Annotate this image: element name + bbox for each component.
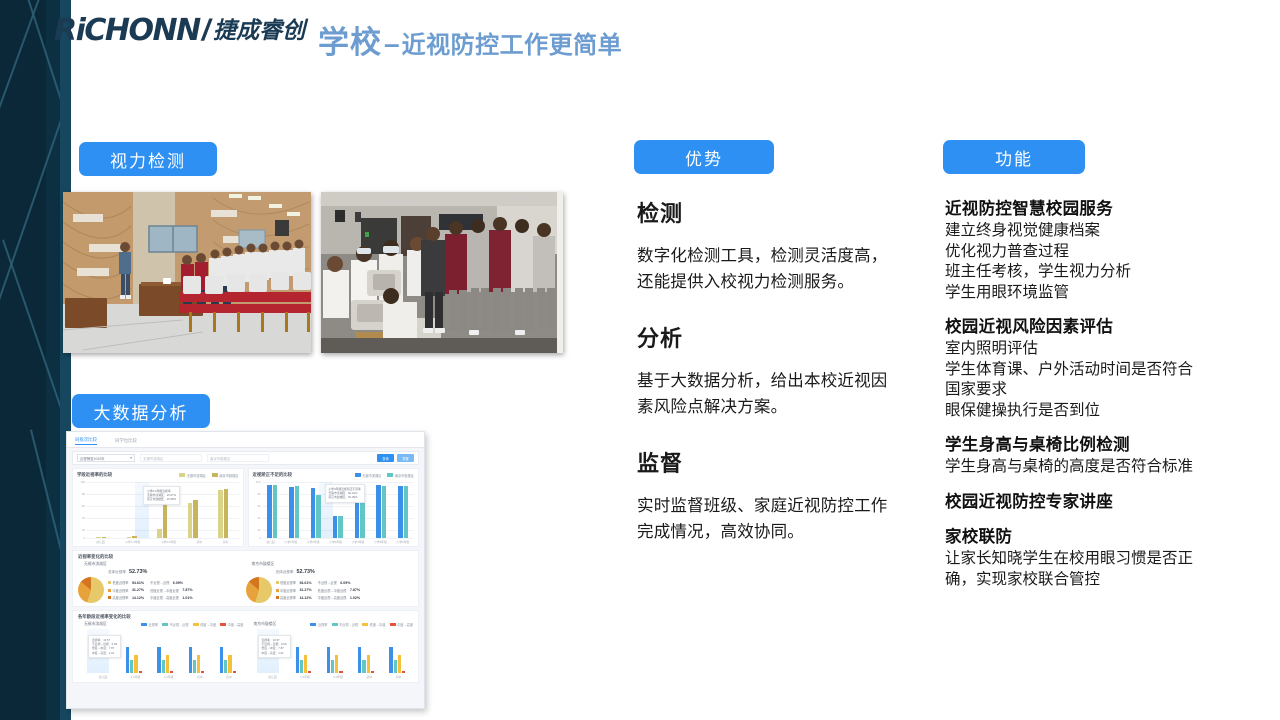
- legend-swatch: [162, 623, 168, 626]
- bar: [163, 505, 168, 538]
- legend-label: 高度近视率: [113, 595, 129, 600]
- bar: [295, 486, 300, 538]
- bar: [367, 655, 370, 673]
- x-tick-label: 初中: [197, 675, 203, 679]
- chart1-ytick-100: 100: [80, 480, 85, 484]
- chart1-legend-label-1: 南京市鼓楼区: [219, 473, 238, 478]
- chart1-ytick-0: 0: [83, 536, 85, 540]
- dashboard-search-button[interactable]: 查询: [377, 454, 394, 462]
- bar-group: [327, 629, 343, 673]
- pie-legend-transitions: 不近视→近视6.09%低度近视→中度近视7.87%中度近视→高度近视1.02%: [318, 580, 360, 600]
- x-tick-label: 幼儿园: [268, 675, 276, 679]
- bar: [162, 660, 165, 673]
- legend-item: 低度近视率54.61%: [108, 580, 144, 585]
- legend-item: 低度近视→中度近视7.87%: [150, 588, 192, 593]
- x-tick-label: 小学4-6年级: [161, 540, 176, 544]
- legend-swatch: [276, 581, 279, 584]
- x-tick-label: 初中: [197, 540, 203, 544]
- bar: [139, 671, 142, 673]
- pie-chart: [246, 577, 272, 603]
- bar: [96, 537, 101, 538]
- bar: [102, 537, 107, 538]
- bar: [333, 516, 338, 538]
- dashboard-tab-1[interactable]: 同学位比较: [115, 438, 137, 445]
- x-tick-label: 小学4年级: [352, 540, 365, 544]
- bar: [398, 655, 401, 673]
- bar-group: [296, 629, 312, 673]
- chart2-ytick-60: 60: [257, 504, 260, 508]
- bar: [394, 660, 397, 673]
- legend-swatch: [355, 473, 361, 476]
- bar: [218, 490, 223, 538]
- pie-row: 低度近视率54.61%中度近视率31.27%高度近视率14.12%不近视→近视6…: [78, 577, 246, 603]
- pie-panel-region: 无锡市滨湖区: [84, 562, 246, 567]
- function-item-1-1: 学生体育课、户外活动时间是否符合: [945, 360, 1245, 380]
- bar: [170, 671, 173, 673]
- x-tick-label: 高中: [396, 675, 402, 679]
- chart3-panels: 无锡市滨湖区总体近视率52.73%低度近视率54.61%中度近视率31.27%高…: [78, 562, 413, 603]
- logo-divider: /: [202, 16, 210, 46]
- photo1-graphic: [63, 192, 311, 353]
- legend-label: 低度近视率: [280, 580, 296, 585]
- total-value: 52.73%: [296, 569, 314, 575]
- function-block-4: 家校联防让家长知晓学生在校用眼习惯是否正确，实现家校联合管控: [945, 526, 1245, 590]
- title-subtitle: 近视防控工作更简单: [402, 25, 623, 60]
- pie-row: 低度近视率54.61%中度近视率31.27%高度近视率14.12%不近视→近视6…: [246, 577, 414, 603]
- bar-group: [289, 482, 299, 538]
- bar: [193, 500, 198, 538]
- function-heading-2: 学生身高与桌椅比例检测: [945, 434, 1245, 456]
- chart2-ytick-100: 100: [256, 480, 261, 484]
- pie-legend: 低度近视率54.61%中度近视率31.27%高度近视率14.12%不近视→近视6…: [276, 580, 361, 600]
- chart4-panels: 无锡市滨湖区近视率不近视→近视低度→中度中度→高度近视率：16.57不近视→近视…: [78, 622, 413, 679]
- bar: [197, 655, 200, 673]
- function-block-2: 学生身高与桌椅比例检测学生身高与桌椅的高度是否符合标准: [945, 434, 1245, 478]
- x-tick-label: 1-3年级: [300, 675, 310, 679]
- function-item-0-1: 优化视力普查过程: [945, 242, 1245, 262]
- chart2-ytick-40: 40: [257, 516, 260, 520]
- badge-bigdata-analysis: 大数据分析: [72, 394, 210, 428]
- chart-card-correction-deficiency: 近视矫正不足的比较 无锡市滨湖区 南京市鼓楼区: [248, 468, 420, 547]
- badge-function: 功能: [943, 140, 1085, 174]
- bar: [296, 647, 299, 673]
- x-tick-label: 小学3年级: [329, 540, 342, 544]
- bar: [402, 671, 405, 673]
- pie-legend: 低度近视率54.61%中度近视率31.27%高度近视率14.12%不近视→近视6…: [108, 580, 193, 600]
- x-tick-label: 高中: [226, 675, 232, 679]
- bar-group: [188, 482, 198, 538]
- advantage-block-2: 监督 实时监督班级、家庭近视防控工作完成情况，高效协同。: [637, 446, 889, 545]
- dashboard-screenshot[interactable]: 同批次比较 同学位比较 近视筛查2020年 ▾ 无锡市滨湖区 南京市鼓楼区 查询…: [66, 431, 425, 709]
- chart2-xlabels: 幼儿园小学1年级小学2年级小学3年级小学4年级小学5年级小学6年级: [262, 540, 415, 544]
- bar: [134, 655, 137, 673]
- bar: [157, 529, 162, 538]
- legend-label: 低度近视→中度近视: [318, 588, 347, 593]
- agegroup-xlabels: 幼儿园1-3年级4-6年级初中高中: [87, 675, 244, 679]
- advantage-block-1: 分析 基于大数据分析，给出本校近视因素风险点解决方案。: [637, 321, 889, 420]
- legend-value: 1.01%: [182, 596, 192, 600]
- pie-panel-total: 总体近视率52.73%: [276, 569, 414, 575]
- chart1-plot: 100 80 60 40 20 0 小学4-6年级近视率无锡市滨湖区：15.67…: [77, 480, 239, 544]
- legend-value: 14.12%: [132, 596, 144, 600]
- x-tick-label: 高中: [223, 540, 229, 544]
- legend-swatch: [212, 473, 218, 476]
- bar: [289, 487, 294, 538]
- chart-card-stage-myopia-rate: 学段近视率的比较 无锡市滨湖区 南京市鼓楼区: [72, 468, 244, 547]
- advantage-heading-1: 分析: [637, 321, 889, 353]
- function-heading-3: 校园近视防控专家讲座: [945, 491, 1245, 513]
- bar-group: [127, 482, 137, 538]
- total-value: 52.73%: [129, 569, 147, 575]
- legend-value: 54.61%: [299, 581, 311, 585]
- legend-value: 7.87%: [350, 588, 360, 592]
- dashboard-year-value: 近视筛查2020年: [80, 456, 105, 461]
- function-item-1-0: 室内照明评估: [945, 339, 1245, 359]
- bar-group: [389, 629, 405, 673]
- advantage-heading-2: 监督: [637, 446, 889, 478]
- dashboard-reset-button[interactable]: 重置: [397, 454, 414, 462]
- legend-swatch: [193, 623, 199, 626]
- bar: [188, 503, 193, 538]
- legend-label: 高度近视率: [280, 595, 296, 600]
- dashboard-action-buttons[interactable]: 查询 重置: [377, 454, 414, 462]
- agegroup-xlabels: 幼儿园1-3年级4-6年级初中高中: [257, 675, 414, 679]
- function-block-3: 校园近视防控专家讲座: [945, 491, 1245, 513]
- legend-item: 中度近视→高度近视1.01%: [150, 595, 192, 600]
- chart2-tooltip: 小学3年级近视矫正不足率无锡市滨湖区：60.01%南京市鼓楼区：60.09%: [325, 484, 365, 503]
- advantage-heading-0: 检测: [637, 196, 889, 228]
- legend-value: 6.09%: [173, 581, 183, 585]
- tooltip-line: 南京市鼓楼区：15.68%: [147, 497, 176, 501]
- dashboard-region1-input[interactable]: 无锡市滨湖区: [140, 454, 202, 462]
- bar: [224, 489, 229, 538]
- bar: [311, 488, 316, 538]
- function-item-4-0: 让家长知晓学生在校用眼习惯是否正: [945, 549, 1245, 569]
- chart1-ytick-60: 60: [82, 504, 85, 508]
- agegroup-plot: 近视率：16.57不近视→近视：6.09低度→中度：7.87中度→高度：1.01…: [78, 627, 244, 679]
- function-heading-1: 校园近视风险因素评估: [945, 316, 1245, 338]
- chart-card-age-group-change: 各年龄段近视率变化的比较 无锡市滨湖区近视率不近视→近视低度→中度中度→高度近视…: [72, 610, 419, 683]
- legend-swatch: [362, 623, 368, 626]
- bar-group: [189, 629, 205, 673]
- pie-chart: [78, 577, 104, 603]
- chart2-header: 近视矫正不足的比较 无锡市滨湖区 南京市鼓楼区: [253, 472, 415, 478]
- x-tick-label: 幼儿园: [96, 540, 104, 544]
- chart1-legend-label-0: 无锡市滨湖区: [187, 473, 206, 478]
- chart1-header: 学段近视率的比较 无锡市滨湖区 南京市鼓楼区: [77, 472, 239, 478]
- chevron-down-icon: ▾: [130, 456, 132, 460]
- bar: [157, 647, 160, 673]
- chart-card-myopia-change: 近视率变化的比较 无锡市滨湖区总体近视率52.73%低度近视率54.61%中度近…: [72, 550, 419, 607]
- pie-panel-region: 南京市鼓楼区: [252, 562, 414, 567]
- legend-value: 7.87%: [182, 588, 192, 592]
- function-item-0-2: 班主任考核，学生视力分析: [945, 262, 1245, 282]
- chart1-legend-0: 无锡市滨湖区: [179, 473, 206, 478]
- vision-screening-photo: [321, 192, 563, 353]
- legend-swatch: [220, 623, 226, 626]
- legend-label: 低度近视率: [113, 580, 129, 585]
- dashboard-tab-0[interactable]: 同批次比较: [75, 437, 97, 445]
- slide-root: RiCHONN / 捷成睿创 学校 – 近视防控工作更简单 视力检测 大数据分析…: [0, 0, 1280, 720]
- tooltip-line: 中度→高度：1.01: [92, 651, 117, 655]
- legend-swatch: [108, 581, 111, 584]
- band-dark-fill: [0, 0, 46, 720]
- x-tick-label: 幼儿园: [266, 540, 274, 544]
- bar: [398, 486, 403, 538]
- page-title: 学校 – 近视防控工作更简单: [318, 17, 622, 62]
- dashboard-tabs[interactable]: 同批次比较 同学位比较: [67, 432, 424, 448]
- bar-group: [267, 482, 277, 538]
- chart1-tooltip: 小学4-6年级近视率无锡市滨湖区：15.67%南京市鼓楼区：15.68%: [143, 486, 180, 505]
- function-item-0-0: 建立终身视觉健康档案: [945, 221, 1245, 241]
- bar: [220, 647, 223, 673]
- badge-vision-detection: 视力检测: [79, 142, 217, 176]
- bar: [233, 671, 236, 673]
- chart2-legend: 无锡市滨湖区 南京市鼓楼区: [355, 473, 414, 478]
- function-item-2-0: 学生身高与桌椅的高度是否符合标准: [945, 457, 1245, 477]
- pie-panel: 无锡市滨湖区总体近视率52.73%低度近视率54.61%中度近视率31.27%高…: [78, 562, 246, 603]
- x-tick-label: 4-6年级: [164, 675, 174, 679]
- legend-label: 中度近视率: [113, 588, 129, 593]
- bar-group: [157, 629, 173, 673]
- pie-panel-total: 总体近视率52.73%: [108, 569, 246, 575]
- x-tick-label: 小学5年级: [374, 540, 387, 544]
- x-tick-label: 1-3年级: [131, 675, 141, 679]
- chart1-legend: 无锡市滨湖区 南京市鼓楼区: [179, 473, 238, 478]
- bar: [267, 485, 272, 538]
- total-label: 总体近视率: [108, 570, 126, 574]
- function-item-1-2: 国家要求: [945, 380, 1245, 400]
- bar-group: [398, 482, 408, 538]
- left-decor-band: [0, 0, 66, 720]
- legend-value: 54.61%: [132, 581, 144, 585]
- bar: [371, 671, 374, 673]
- chart2-legend-1: 南京市鼓楼区: [387, 473, 414, 478]
- legend-label: 不近视→近视: [150, 580, 169, 585]
- chart2-legend-0: 无锡市滨湖区: [355, 473, 382, 478]
- bar: [338, 516, 343, 538]
- function-item-0-3: 学生用眼环境监管: [945, 283, 1245, 303]
- bar: [304, 655, 307, 673]
- bar-group: [311, 482, 321, 538]
- x-tick-label: 小学2年级: [307, 540, 320, 544]
- bar: [335, 655, 338, 673]
- bar: [166, 655, 169, 673]
- dashboard-chart-row-1: 学段近视率的比较 无锡市滨湖区 南京市鼓楼区: [67, 465, 424, 547]
- x-tick-label: 初中: [366, 675, 372, 679]
- dashboard-filter-bar[interactable]: 近视筛查2020年 ▾ 无锡市滨湖区 南京市鼓楼区 查询 重置: [72, 451, 419, 465]
- legend-item: 低度近视率54.61%: [276, 580, 312, 585]
- legend-value: 31.27%: [299, 588, 311, 592]
- x-tick-label: 小学1-3年级: [125, 540, 140, 544]
- legend-item: 中度近视率31.27%: [276, 588, 312, 593]
- bar: [130, 660, 133, 673]
- agegroup-panel: 南京市鼓楼区近视率不近视→近视低度→中度中度→高度近视率：16.57不近视→近视…: [248, 622, 414, 679]
- legend-item: 中度近视率31.27%: [108, 588, 144, 593]
- agegroup-panel: 无锡市滨湖区近视率不近视→近视低度→中度中度→高度近视率：16.57不近视→近视…: [78, 622, 244, 679]
- bar: [339, 671, 342, 673]
- bar-group: [126, 629, 142, 673]
- bar-group: [376, 482, 386, 538]
- x-tick-label: 小学6年级: [396, 540, 409, 544]
- chart2-yaxis: 100 80 60 40 20 0: [253, 480, 262, 544]
- function-block-1: 校园近视风险因素评估室内照明评估学生体育课、户外活动时间是否符合国家要求眼保健操…: [945, 316, 1245, 421]
- bar: [376, 485, 381, 538]
- pie-legend-transitions: 不近视→近视6.09%低度近视→中度近视7.87%中度近视→高度近视1.01%: [150, 580, 192, 600]
- slide-header: RiCHONN / 捷成睿创 学校 – 近视防控工作更简单: [0, 0, 1280, 80]
- total-label: 总体近视率: [276, 570, 294, 574]
- chart1-title: 学段近视率的比较: [77, 472, 112, 478]
- bar: [327, 647, 330, 673]
- bar: [273, 485, 278, 538]
- legend-item: 高度近视率14.12%: [108, 595, 144, 600]
- agegroup-plot: 近视率：16.57不近视→近视：6.09低度→中度：7.87中度→高度：1.01…: [248, 627, 414, 679]
- advantage-body-0: 数字化检测工具，检测灵活度高，还能提供入校视力检测服务。: [637, 244, 889, 295]
- legend-item: 高度近视率14.12%: [276, 595, 312, 600]
- legend-item: 低度近视→中度近视7.87%: [318, 588, 360, 593]
- bar: [308, 671, 311, 673]
- bar: [132, 536, 137, 538]
- function-item-1-3: 眼保健操执行是否到位: [945, 401, 1245, 421]
- legend-swatch: [108, 589, 111, 592]
- chart1-ytick-40: 40: [82, 516, 85, 520]
- function-item-4-1: 确，实现家校联合管控: [945, 570, 1245, 590]
- chart2-plot: 100 80 60 40 20 0 小学3年级近视矫正不足率无锡市滨湖区：60.…: [253, 480, 415, 544]
- legend-swatch: [179, 473, 185, 476]
- x-tick-label: 小学1年级: [284, 540, 297, 544]
- x-tick-label: 幼儿园: [99, 675, 107, 679]
- bar: [382, 486, 387, 538]
- bar: [228, 655, 231, 673]
- legend-value: 1.02%: [350, 596, 360, 600]
- legend-label: 低度近视→中度近视: [150, 588, 179, 593]
- student-queue: [407, 217, 555, 335]
- legend-swatch: [332, 623, 338, 626]
- chart2-ytick-0: 0: [259, 536, 261, 540]
- advantage-block-0: 检测 数字化检测工具，检测灵活度高，还能提供入校视力检测服务。: [637, 196, 889, 295]
- bar: [127, 537, 132, 538]
- bar: [201, 671, 204, 673]
- legend-swatch: [390, 623, 396, 626]
- logo-chinese-name: 捷成睿创: [213, 20, 305, 43]
- bar-group: [358, 629, 374, 673]
- advantage-body-2: 实时监督班级、家庭近视防控工作完成情况，高效协同。: [637, 494, 889, 545]
- bar: [189, 647, 192, 673]
- photo2-graphic: [321, 192, 563, 353]
- legend-swatch: [276, 596, 279, 599]
- legend-swatch: [276, 589, 279, 592]
- tooltip-line: 中度→高度：1.01: [262, 651, 287, 655]
- legend-label: 中度近视→高度近视: [150, 595, 179, 600]
- chart1-legend-1: 南京市鼓楼区: [212, 473, 239, 478]
- function-heading-0: 近视防控智慧校园服务: [945, 198, 1245, 220]
- function-heading-4: 家校联防: [945, 526, 1245, 548]
- bar: [404, 486, 409, 538]
- functions-column: 近视防控智慧校园服务建立终身视觉健康档案优化视力普查过程班主任考核，学生视力分析…: [945, 198, 1245, 603]
- bar-group: [96, 482, 106, 538]
- bar: [358, 647, 361, 673]
- bar: [331, 660, 334, 673]
- bar: [316, 495, 321, 538]
- chart1-xlabels: 幼儿园小学1-3年级小学4-6年级初中高中: [86, 540, 239, 544]
- legend-value: 6.09%: [340, 581, 350, 585]
- pie-legend-slices: 低度近视率54.61%中度近视率31.27%高度近视率14.12%: [108, 580, 144, 600]
- tooltip-line: 低度→中度：7.87: [262, 646, 287, 650]
- chart1-ytick-20: 20: [82, 528, 85, 532]
- legend-label: 不近视→近视: [318, 580, 337, 585]
- chart2-title: 近视矫正不足的比较: [253, 472, 293, 478]
- dashboard-year-select[interactable]: 近视筛查2020年 ▾: [77, 454, 135, 462]
- legend-swatch: [310, 623, 316, 626]
- bar-group: [220, 629, 236, 673]
- legend-swatch: [141, 623, 147, 626]
- legend-label: 中度近视→高度近视: [318, 595, 347, 600]
- chart2-ytick-80: 80: [257, 492, 260, 496]
- tooltip-line: 南京市鼓楼区：60.09%: [329, 495, 361, 499]
- legend-item: 不近视→近视6.09%: [318, 580, 360, 585]
- agegroup-tooltip: 近视率：16.57不近视→近视：6.09低度→中度：7.87中度→高度：1.01: [258, 635, 291, 658]
- legend-item: 不近视→近视6.09%: [150, 580, 192, 585]
- advantage-body-1: 基于大数据分析，给出本校近视因素风险点解决方案。: [637, 369, 889, 420]
- bar: [362, 660, 365, 673]
- brand-logo: RiCHONN / 捷成睿创: [54, 14, 305, 48]
- legend-label: 中度近视率: [280, 588, 296, 593]
- bar: [193, 660, 196, 673]
- auditorium-students-photo: [63, 192, 311, 353]
- tooltip-line: 低度→中度：7.87: [92, 646, 117, 650]
- bar: [300, 660, 303, 673]
- dashboard-region2-input[interactable]: 南京市鼓楼区: [207, 454, 269, 462]
- legend-value: 31.27%: [132, 588, 144, 592]
- advantages-column: 检测 数字化检测工具，检测灵活度高，还能提供入校视力检测服务。 分析 基于大数据…: [637, 196, 889, 545]
- title-main: 学校: [318, 17, 382, 62]
- chart1-yaxis: 100 80 60 40 20 0: [77, 480, 86, 544]
- legend-swatch: [108, 596, 111, 599]
- logo-wordmark: RiCHONN: [54, 16, 200, 46]
- function-block-0: 近视防控智慧校园服务建立终身视觉健康档案优化视力普查过程班主任考核，学生视力分析…: [945, 198, 1245, 303]
- x-tick-label: 4-6年级: [333, 675, 343, 679]
- chart2-legend-label-1: 南京市鼓楼区: [395, 473, 414, 478]
- chart3-title: 近视率变化的比较: [78, 554, 413, 560]
- legend-value: 14.12%: [299, 596, 311, 600]
- badge-advantage: 优势: [634, 140, 774, 174]
- title-dash: –: [384, 28, 400, 60]
- chart2-ytick-20: 20: [257, 528, 260, 532]
- bar: [224, 660, 227, 673]
- agegroup-tooltip: 近视率：16.57不近视→近视：6.09低度→中度：7.87中度→高度：1.01: [88, 635, 121, 658]
- chart2-legend-label-0: 无锡市滨湖区: [362, 473, 381, 478]
- pie-legend-slices: 低度近视率54.61%中度近视率31.27%高度近视率14.12%: [276, 580, 312, 600]
- legend-item: 中度近视→高度近视1.02%: [318, 595, 360, 600]
- bar: [126, 647, 129, 673]
- chart1-ytick-80: 80: [82, 492, 85, 496]
- pie-panel: 南京市鼓楼区总体近视率52.73%低度近视率54.61%中度近视率31.27%高…: [246, 562, 414, 603]
- bar-group: [218, 482, 228, 538]
- chart4-title: 各年龄段近视率变化的比较: [78, 614, 413, 620]
- bar: [389, 647, 392, 673]
- legend-swatch: [387, 473, 393, 476]
